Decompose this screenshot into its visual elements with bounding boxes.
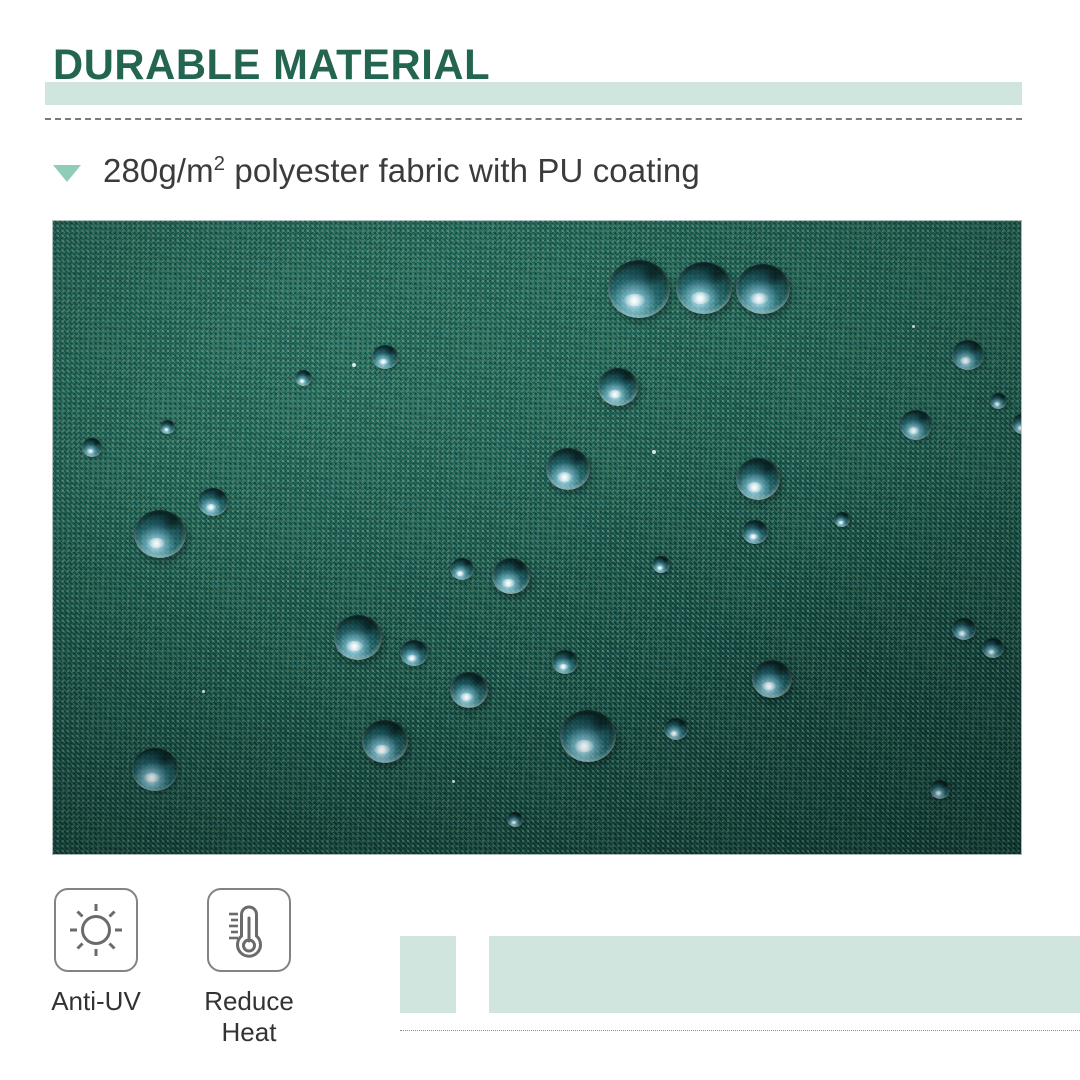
- fabric-vignette-layer: [52, 220, 1022, 855]
- footer-accent-block-wide: [489, 936, 1080, 1013]
- footer-accent-block-small: [400, 936, 456, 1013]
- triangle-down-icon: [53, 165, 81, 182]
- feature-bullet-row: 280g/m2 polyester fabric with PU coating: [53, 152, 700, 190]
- feature-bullet-text: 280g/m2 polyester fabric with PU coating: [103, 152, 700, 190]
- feature-item-reduce-heat: Reduce Heat: [200, 888, 298, 1047]
- reduce-heat-icon-box: [207, 888, 291, 972]
- header-divider: [45, 118, 1022, 120]
- page-title: DURABLE MATERIAL: [53, 44, 490, 87]
- anti-uv-icon-box: [54, 888, 138, 972]
- footer-divider: [400, 1030, 1080, 1031]
- feature-label-reduce-heat: Reduce Heat: [204, 986, 294, 1047]
- fabric-closeup-photo: [52, 220, 1022, 855]
- feature-icon-group: Anti-UV Reduce Heat: [47, 888, 298, 1047]
- bullet-text-suffix: polyester fabric with PU coating: [225, 152, 700, 189]
- bullet-text-prefix: 280g/m: [103, 152, 214, 189]
- thermometer-icon: [220, 901, 278, 959]
- feature-item-anti-uv: Anti-UV: [47, 888, 145, 1047]
- feature-label-anti-uv: Anti-UV: [51, 986, 141, 1017]
- bullet-text-superscript: 2: [214, 152, 225, 175]
- sun-icon: [67, 901, 125, 959]
